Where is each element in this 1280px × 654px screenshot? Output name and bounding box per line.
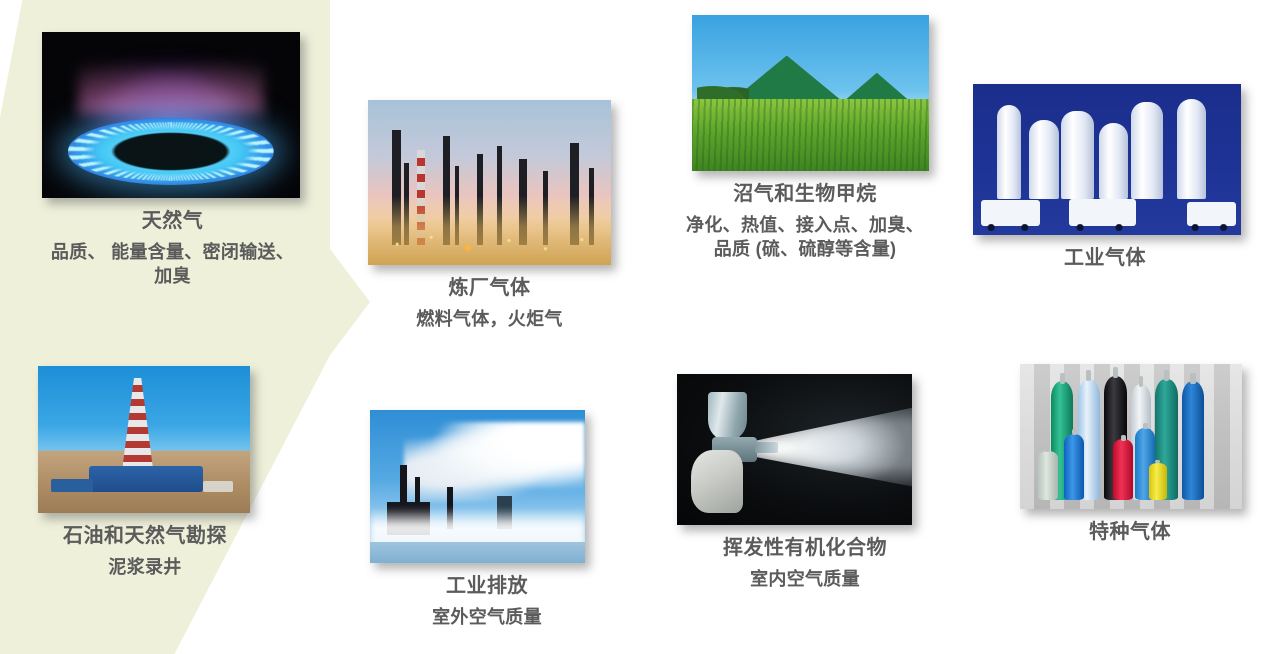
drilling-rig-photo [38,366,250,513]
industrial-gas-tanks-trucks-photo [973,84,1241,235]
card-title-exploration: 石油和天然气勘探 [0,523,290,549]
smokestack-2-shape [415,477,420,505]
spray-gun-photo [677,374,912,525]
card-subtitle-emissions: 室外空气质量 [352,606,622,630]
tanker-truck-2-shape [1069,199,1136,226]
cryo-tank-4-shape [1099,123,1128,199]
cryo-tank-6-shape [1177,99,1206,199]
frozen-water-shape [370,542,585,563]
tanker-truck-3-shape [1187,202,1235,226]
card-specialty[interactable]: 特种气体 [985,352,1275,545]
tanker-truck-1-shape [981,200,1040,226]
card-title-refinery: 炼厂气体 [352,275,627,301]
card-industrial-gases[interactable]: 工业气体 [955,72,1255,271]
gas-burner-flame-photo [42,32,300,198]
card-title-emissions: 工业排放 [352,573,622,599]
smokestack-1-shape [400,465,407,505]
refinery-lights-shape [368,212,611,258]
card-exploration[interactable]: 石油和天然气勘探 泥浆录井 [0,352,290,580]
card-natural-gas[interactable]: 天然气 品质、 能量含量、密闭输送、 加臭 [0,18,345,289]
rig-equipment-1-shape [51,479,93,492]
cylinder-blue-shape [1182,381,1204,500]
cryo-tank-2-shape [1029,120,1058,199]
burner-jets-shape [68,122,274,182]
oil-refinery-photo [368,100,611,265]
card-emissions[interactable]: 工业排放 室外空气质量 [352,398,622,630]
card-biogas[interactable]: 沼气和生物甲烷 净化、热值、接入点、加臭、 品质 (硫、硫醇等含量) [655,5,955,262]
card-voc[interactable]: 挥发性有机化合物 室内空气质量 [655,362,955,592]
flame-pink-tips-shape [78,45,264,115]
paint-cup-shape [708,392,748,440]
card-subtitle-refinery: 燃料气体，火炬气 [352,308,627,332]
gloved-hand-shape [691,450,743,513]
rig-platform-shape [89,466,203,492]
card-title-natural-gas: 天然气 [0,208,345,234]
smoke-plume-shape [404,422,585,502]
rig-equipment-2-shape [203,481,233,493]
treeline-shape [697,84,749,100]
card-subtitle-natural-gas: 品质、 能量含量、密闭输送、 加臭 [0,241,345,289]
card-subtitle-biogas: 净化、热值、接入点、加臭、 品质 (硫、硫醇等含量) [655,214,955,262]
derrick-mast-shape [123,378,153,466]
spray-nozzle-shape [755,442,779,453]
cylinder-red-shape [1113,439,1133,500]
cylinder-pale-shape [1038,451,1058,500]
cylinder-yellow-shape [1149,463,1167,501]
cryo-tank-3-shape [1061,111,1093,199]
cryo-tank-1-shape [997,105,1021,199]
card-subtitle-voc: 室内空气质量 [655,568,955,592]
card-title-industrial-gases: 工业气体 [955,245,1255,271]
cryo-tank-5-shape [1131,102,1163,199]
cornfield-shape [692,99,929,171]
card-subtitle-exploration: 泥浆录井 [0,556,290,580]
biogas-plant-cornfield-photo [692,15,929,171]
specialty-gas-cylinders-photo [1020,364,1242,509]
cylinder-small-blue-shape [1064,434,1084,501]
slide-canvas: 天然气 品质、 能量含量、密闭输送、 加臭 炼厂气体 燃料气体，火炬气 [0,0,1280,654]
card-title-voc: 挥发性有机化合物 [655,535,955,561]
smokestack-emissions-photo [370,410,585,563]
card-title-specialty: 特种气体 [985,519,1275,545]
card-title-biogas: 沼气和生物甲烷 [655,181,955,207]
card-refinery[interactable]: 炼厂气体 燃料气体，火炬气 [352,90,627,332]
